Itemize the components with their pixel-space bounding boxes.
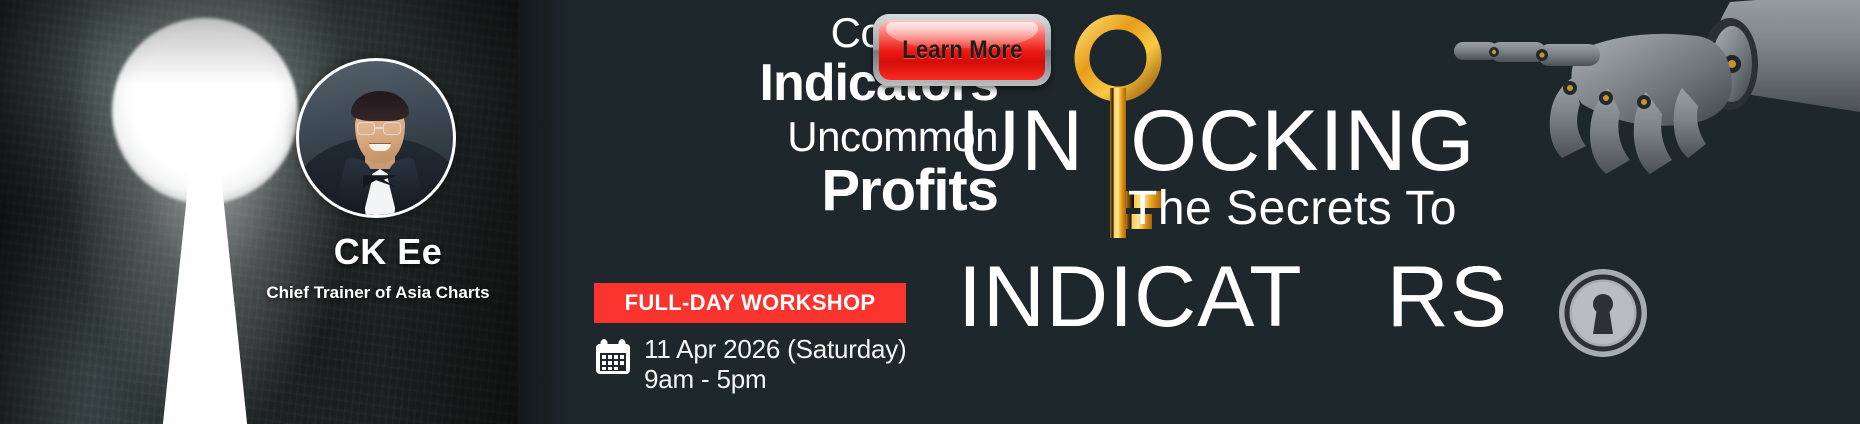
padlock-keyhole-icon <box>1558 268 1648 358</box>
unlocking-headline: UNOCKING <box>958 98 1475 184</box>
workshop-promo-banner: CK Ee Chief Trainer of Asia Charts Commo… <box>0 0 1860 424</box>
indicators-part-two: RS <box>1387 249 1508 345</box>
trainer-name: CK Ee <box>253 231 518 273</box>
event-datetime: 11 Apr 2026 (Saturday) 9am - 5pm <box>594 334 907 394</box>
indicators-part-one: INDICAT <box>958 249 1303 345</box>
left-keyhole-panel: CK Ee Chief Trainer of Asia Charts <box>0 0 518 424</box>
status-badge: FULL-DAY WORKSHOP <box>594 283 906 323</box>
main-dark-panel: Common Indicators Uncommon Profits FULL-… <box>518 0 1860 424</box>
avatar <box>296 58 456 218</box>
avatar-glasses-left <box>357 122 375 135</box>
unlocking-part-two: OCKING <box>1130 93 1475 189</box>
workshop-badge-label: FULL-DAY WORKSHOP <box>625 290 876 316</box>
keyhole-bulb <box>112 18 298 204</box>
avatar-hair <box>351 91 409 121</box>
event-datetime-text: 11 Apr 2026 (Saturday) 9am - 5pm <box>644 334 907 394</box>
calendar-icon <box>594 338 632 381</box>
event-date: 11 Apr 2026 (Saturday) <box>644 334 907 364</box>
indicators-headline: INDICATRS <box>958 254 1508 340</box>
secrets-subheadline: The Secrets To <box>1128 185 1457 233</box>
learn-more-button-face[interactable]: Learn More <box>879 20 1045 80</box>
headline-line-uncommon: Uncommon <box>578 112 998 162</box>
avatar-glasses-right <box>383 122 401 135</box>
panel-seam <box>518 0 570 424</box>
unlocking-part-one: UN <box>958 93 1084 189</box>
event-time: 9am - 5pm <box>644 364 907 394</box>
avatar-glasses-bridge <box>375 127 383 129</box>
headline-line-profits: Profits <box>578 162 998 220</box>
learn-more-button[interactable]: Learn More <box>873 14 1051 86</box>
robotic-hand-icon <box>1430 0 1860 222</box>
learn-more-label: Learn More <box>902 36 1022 65</box>
trainer-role: Chief Trainer of Asia Charts <box>233 283 518 303</box>
